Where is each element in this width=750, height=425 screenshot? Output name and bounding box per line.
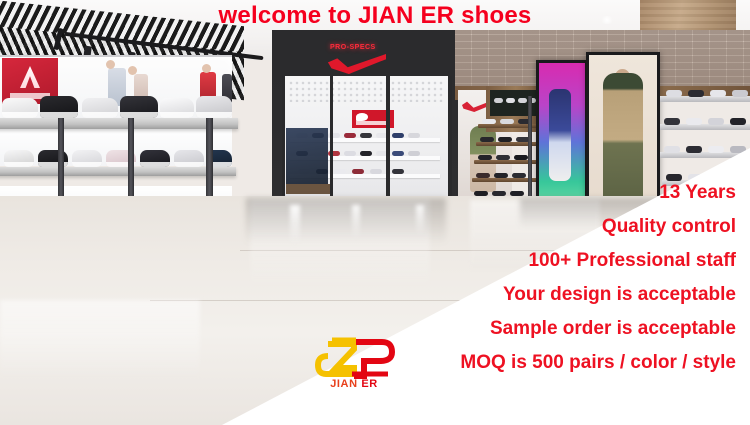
shoe [82,98,118,118]
shoe [120,96,158,118]
shoe [686,146,702,153]
feature-item-4: Your design is acceptable [266,278,736,312]
display-shelf [0,167,236,176]
shoe [72,150,102,167]
shoe [506,98,515,103]
shoe [514,155,528,160]
shoe [688,90,704,97]
shoe [478,155,492,160]
shoe [140,150,170,167]
promo-banner: PRO-SPECS [0,0,750,425]
shoe [686,118,702,125]
feature-item-2: Quality control [266,210,736,244]
shoe [2,98,38,118]
logo-name-second: ER [361,378,377,390]
shoe [664,118,680,125]
shoe [500,119,514,124]
shoe [498,137,512,142]
shoe [392,169,404,174]
shoe [408,151,420,156]
shoe [666,90,682,97]
shoe [392,133,404,138]
shoe [482,119,496,124]
shoe [710,90,726,97]
banner-figure-head [128,66,137,75]
shoe [664,146,680,153]
company-logo: JIAN ER [308,334,400,396]
shoe [360,133,372,138]
prospecs-sign-text: PRO-SPECS [330,44,376,51]
shoe [344,133,356,138]
shoe [730,118,746,125]
shoe [344,151,356,156]
shoe [408,133,420,138]
logo-name-first: JIAN [330,378,357,390]
banner-figure-head [202,64,211,73]
shoe [174,150,204,167]
storefront-header [272,30,460,74]
shoe [40,96,78,118]
shoe [4,150,34,167]
shoe [708,146,724,153]
shoe [352,169,364,174]
shoe [708,118,724,125]
shoe [160,98,194,118]
shoe [334,169,346,174]
feature-item-1: 13 Years [266,176,736,210]
floor-reflection [0,300,200,380]
shoe [732,90,748,97]
shoe [496,155,510,160]
shoe [360,151,372,156]
shoe [392,151,404,156]
shoe [480,137,494,142]
feature-item-3: 100+ Professional staff [266,244,736,278]
shoe [196,96,232,118]
banner-figure-head [106,60,115,69]
logo-wordmark: JIAN ER [308,378,400,390]
shoe [494,98,503,103]
jz-monogram-icon [308,334,400,380]
shoe [518,98,527,103]
display-shelf [0,118,238,129]
perforated-panel [288,80,444,102]
page-title: welcome to JIAN ER shoes [0,2,750,30]
shoe [370,169,382,174]
